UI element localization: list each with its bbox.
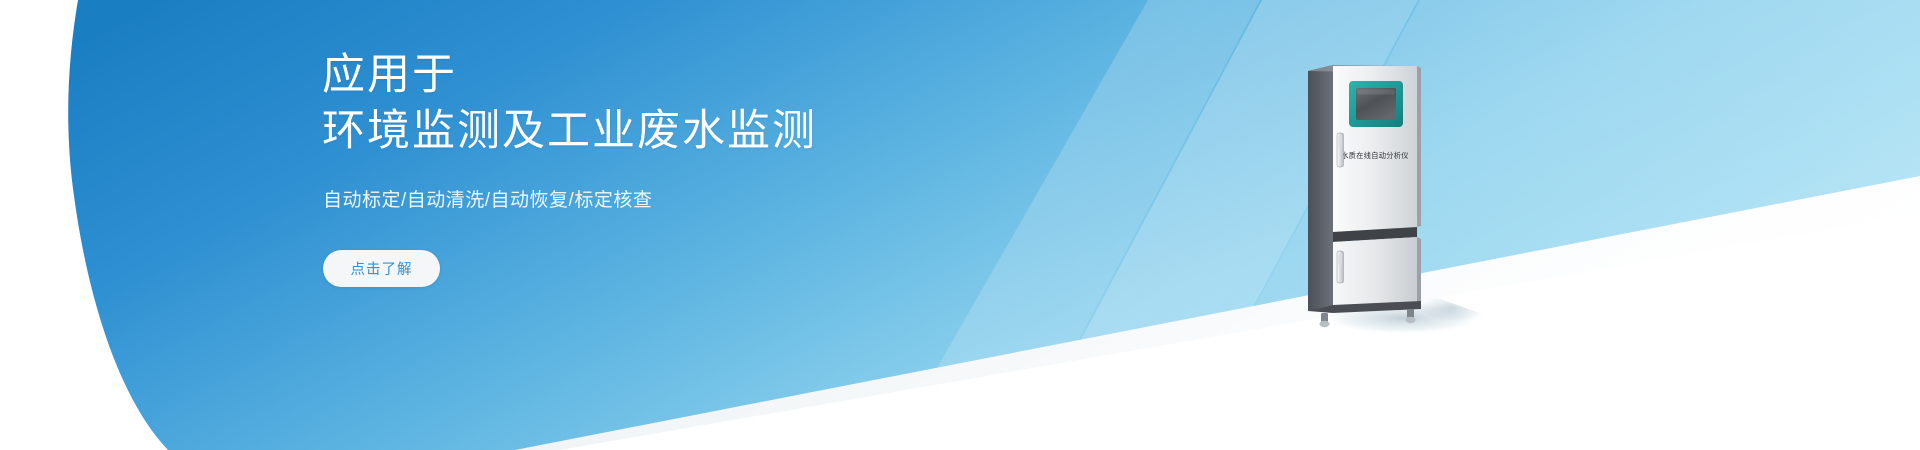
device-front-label-text: 水质在线自动分析仪 — [1341, 151, 1408, 160]
banner-content: 应用于 环境监测及工业废水监测 自动标定/自动清洗/自动恢复/标定核查 点击了解 — [322, 0, 1022, 450]
headline-line-1: 应用于 — [322, 48, 817, 104]
device-display — [1349, 81, 1403, 127]
device-lower-front-panel — [1333, 237, 1417, 305]
banner-subheadline: 自动标定/自动清洗/自动恢复/标定核查 — [323, 185, 652, 212]
banner-headline: 应用于 环境监测及工业废水监测 — [322, 48, 817, 160]
hero-banner: 应用于 环境监测及工业废水监测 自动标定/自动清洗/自动恢复/标定核查 点击了解 — [0, 0, 1920, 450]
cta-learn-more-button[interactable]: 点击了解 — [323, 250, 440, 287]
device-lower-door-handle — [1337, 251, 1344, 283]
device-side-panel — [1308, 65, 1333, 311]
device-lower-right-edge — [1417, 237, 1421, 302]
product-image-water-analyzer: 水质在线自动分析仪 — [1295, 55, 1495, 355]
device-upper-door-handle — [1337, 133, 1344, 167]
headline-line-2: 环境监测及工业废水监测 — [322, 104, 817, 160]
device-right-edge — [1417, 66, 1421, 227]
